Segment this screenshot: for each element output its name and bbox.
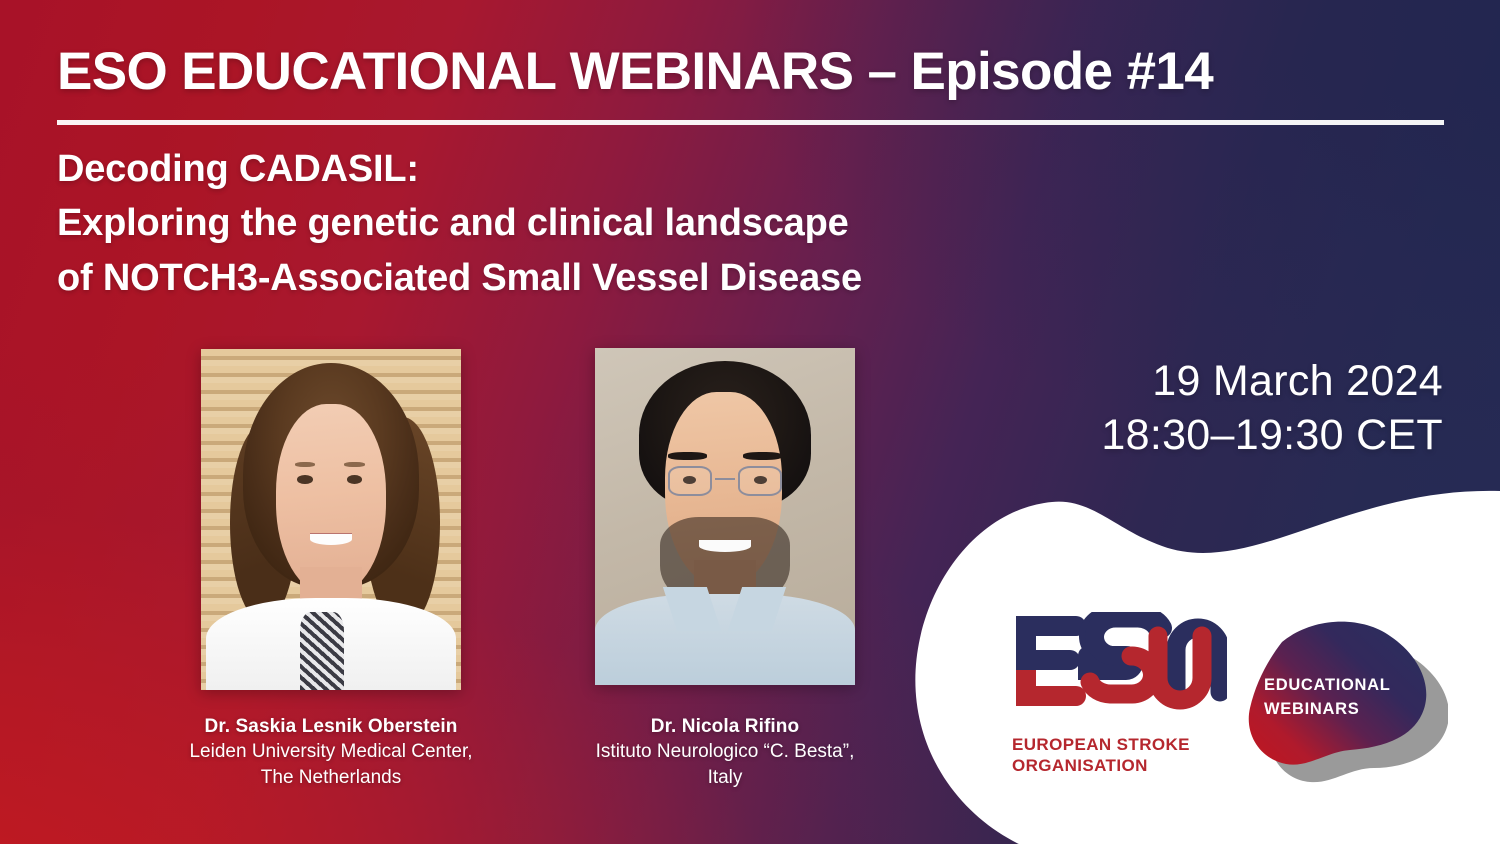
title-underline	[57, 120, 1444, 125]
event-date: 19 March 2024	[1101, 354, 1443, 408]
speaker-photo-2	[595, 348, 855, 685]
badge-line-1: EDUCATIONAL	[1264, 674, 1391, 698]
eso-tagline: EUROPEAN STROKE ORGANISATION	[1012, 734, 1190, 777]
schedule-block: 19 March 2024 18:30–19:30 CET	[1101, 354, 1443, 462]
eso-wordmark	[1012, 612, 1227, 730]
subtitle-line-3: of NOTCH3-Associated Small Vessel Diseas…	[57, 251, 1157, 305]
badge-label: EDUCATIONAL WEBINARS	[1264, 674, 1391, 722]
speaker-affiliation-2-line-2: Italy	[545, 765, 905, 790]
event-time: 18:30–19:30 CET	[1101, 408, 1443, 462]
speaker-name-1: Dr. Saskia Lesnik Oberstein	[151, 714, 511, 739]
speaker-affiliation-1-line-2: The Netherlands	[151, 765, 511, 790]
speaker-affiliation-1-line-1: Leiden University Medical Center,	[151, 739, 511, 764]
page-title: ESO EDUCATIONAL WEBINARS – Episode #14	[57, 42, 1447, 101]
educational-webinars-badge: EDUCATIONAL WEBINARS	[1238, 602, 1448, 792]
eso-tagline-line-1: EUROPEAN STROKE	[1012, 734, 1190, 755]
badge-line-2: WEBINARS	[1264, 698, 1391, 722]
speaker-caption-1: Dr. Saskia Lesnik Oberstein Leiden Unive…	[151, 714, 511, 790]
webinar-subtitle: Decoding CADASIL: Exploring the genetic …	[57, 142, 1157, 305]
eso-logo: EUROPEAN STROKE ORGANISATION	[1012, 612, 1227, 787]
speaker-caption-2: Dr. Nicola Rifino Istituto Neurologico “…	[545, 714, 905, 790]
subtitle-line-2: Exploring the genetic and clinical lands…	[57, 196, 1157, 250]
speaker-name-2: Dr. Nicola Rifino	[545, 714, 905, 739]
eso-tagline-line-2: ORGANISATION	[1012, 755, 1190, 776]
subtitle-line-1: Decoding CADASIL:	[57, 142, 1157, 196]
webinar-poster: ESO EDUCATIONAL WEBINARS – Episode #14 D…	[0, 0, 1500, 844]
speaker-photo-1	[201, 349, 461, 690]
speaker-affiliation-2-line-1: Istituto Neurologico “C. Besta”,	[545, 739, 905, 764]
